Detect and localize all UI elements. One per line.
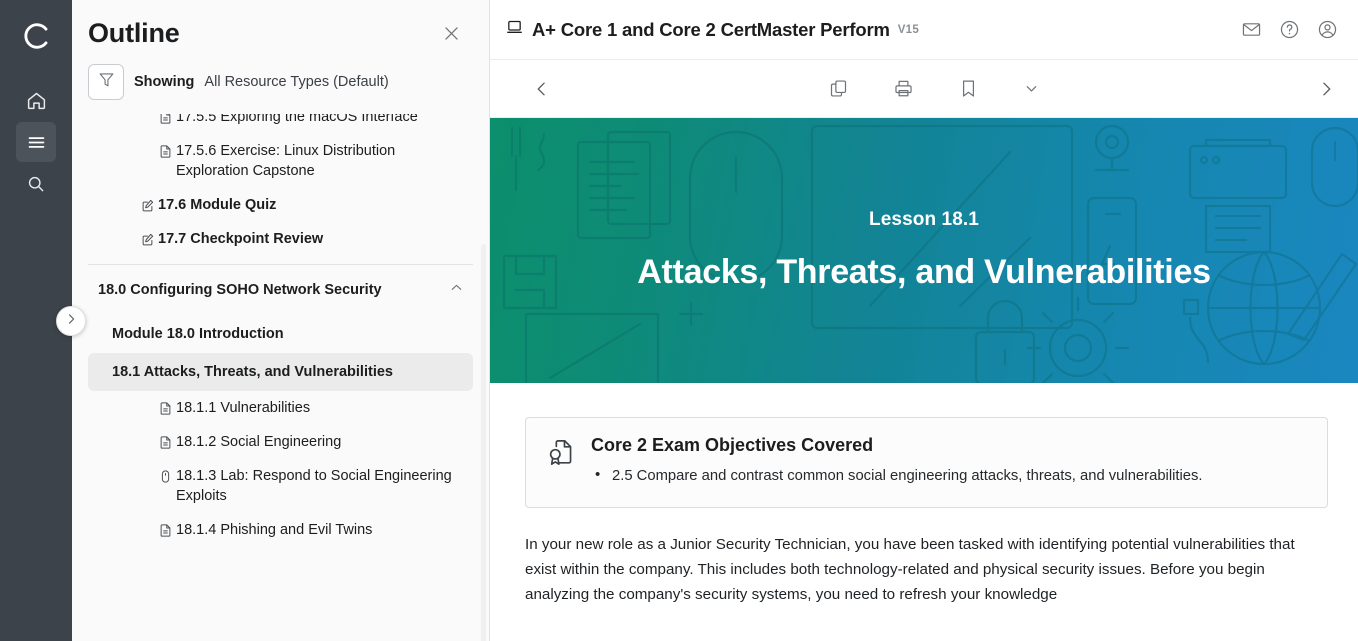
bookmark-icon[interactable] [958, 78, 979, 99]
callout-heading: Core 2 Exam Objectives Covered [591, 435, 1203, 456]
copy-icon[interactable] [828, 78, 849, 99]
list-item-label: 18.1 Attacks, Threats, and Vulnerabiliti… [112, 362, 393, 382]
c-logo-icon[interactable] [14, 14, 58, 58]
list-item: 2.5 Compare and contrast common social e… [591, 465, 1203, 487]
filter-funnel-icon [97, 70, 116, 94]
course-topbar: A+ Core 1 and Core 2 CertMaster Perform … [490, 0, 1358, 60]
section-header-18[interactable]: 18.0 Configuring SOHO Network Security [88, 264, 473, 315]
list-item[interactable]: 18.1.4 Phishing and Evil Twins [88, 513, 473, 547]
page-title: Outline [88, 16, 180, 50]
edit-square-icon [138, 196, 156, 213]
chevron-down-icon[interactable] [1023, 80, 1040, 97]
chevron-up-icon[interactable] [448, 279, 465, 301]
outline-panel: Outline Showing All Resource Types (Defa… [72, 0, 490, 641]
rail-item-home[interactable] [16, 80, 56, 120]
lesson-title: Attacks, Threats, and Vulnerabilities [637, 253, 1210, 292]
list-item-label: 17.5.6 Exercise: Linux Distribution Expl… [158, 141, 465, 181]
user-avatar-icon[interactable] [1317, 19, 1338, 40]
outline-item-18-1-selected[interactable]: 18.1 Attacks, Threats, and Vulnerabiliti… [88, 353, 473, 391]
list-item[interactable]: 17.7 Checkpoint Review [88, 222, 473, 256]
search-icon [26, 174, 46, 194]
showing-label: Showing [134, 74, 194, 90]
outline-item-module-intro[interactable]: Module 18.0 Introduction [88, 315, 473, 353]
outline-tree: 17.5.5 Exploring the macOS Interface 17.… [72, 114, 489, 641]
home-icon [26, 90, 47, 111]
document-icon [156, 521, 174, 538]
list-item-label: 17.5.5 Exploring the macOS Interface [158, 114, 418, 127]
rail-item-search[interactable] [16, 164, 56, 204]
outline-scrollbar[interactable] [481, 244, 486, 641]
list-item-label: 18.1.2 Social Engineering [158, 432, 341, 452]
callout-list: 2.5 Compare and contrast common social e… [591, 465, 1203, 487]
filter-button[interactable] [88, 64, 124, 100]
hamburger-menu-icon [26, 132, 47, 153]
list-item-label: 18.1.3 Lab: Respond to Social Engineerin… [158, 466, 465, 506]
list-item[interactable]: 18.1.3 Lab: Respond to Social Engineerin… [88, 459, 473, 513]
showing-value[interactable]: All Resource Types (Default) [204, 74, 388, 90]
main-content: A+ Core 1 and Core 2 CertMaster Perform … [490, 0, 1358, 641]
close-icon [442, 24, 461, 48]
next-page-button[interactable] [1316, 79, 1336, 99]
course-title: A+ Core 1 and Core 2 CertMaster Perform [532, 19, 890, 41]
help-circle-icon[interactable] [1279, 19, 1300, 40]
panel-collapse-handle[interactable] [56, 306, 86, 336]
list-item-label: 17.7 Checkpoint Review [140, 229, 323, 249]
chevron-right-icon [64, 312, 78, 331]
lesson-paragraph: In your new role as a Junior Security Te… [525, 532, 1315, 607]
document-icon [156, 433, 174, 450]
mouse-icon [156, 467, 174, 484]
list-item-label: Module 18.0 Introduction [112, 324, 284, 344]
list-item[interactable]: 18.1.2 Social Engineering [88, 425, 473, 459]
rail-item-outline[interactable] [16, 122, 56, 162]
list-item-label: 18.1.1 Vulnerabilities [158, 398, 310, 418]
toolbar-buttons [828, 78, 1040, 99]
version-badge: V15 [898, 24, 919, 36]
print-icon[interactable] [893, 78, 914, 99]
topbar-actions [1241, 19, 1338, 40]
app-root: Outline Showing All Resource Types (Defa… [0, 0, 1358, 641]
list-item-label: 18.1.4 Phishing and Evil Twins [158, 520, 372, 540]
banner-tech-artwork [490, 118, 1358, 383]
lesson-banner: Lesson 18.1 Attacks, Threats, and Vulner… [490, 118, 1358, 383]
courseware-icon [506, 19, 523, 41]
document-icon [156, 399, 174, 416]
list-item[interactable]: 17.6 Module Quiz [88, 188, 473, 222]
edit-square-icon [138, 230, 156, 247]
filter-row: Showing All Resource Types (Default) [72, 50, 489, 114]
page-toolbar [490, 60, 1358, 118]
section-title: 18.0 Configuring SOHO Network Security [98, 282, 382, 298]
list-item[interactable]: 17.5.5 Exploring the macOS Interface [88, 114, 473, 134]
certificate-document-icon [546, 435, 577, 487]
lesson-article: Core 2 Exam Objectives Covered 2.5 Compa… [490, 383, 1358, 641]
prev-page-button[interactable] [532, 79, 552, 99]
document-icon [156, 114, 174, 125]
close-button[interactable] [437, 22, 465, 50]
lesson-label: Lesson 18.1 [869, 209, 979, 231]
mail-icon[interactable] [1241, 19, 1262, 40]
list-item[interactable]: 18.1.1 Vulnerabilities [88, 391, 473, 425]
document-icon [156, 142, 174, 159]
list-item-label: 17.6 Module Quiz [140, 195, 276, 215]
list-item[interactable]: 17.5.6 Exercise: Linux Distribution Expl… [88, 134, 473, 188]
outline-header: Outline [72, 0, 489, 50]
exam-objectives-callout: Core 2 Exam Objectives Covered 2.5 Compa… [525, 417, 1328, 508]
